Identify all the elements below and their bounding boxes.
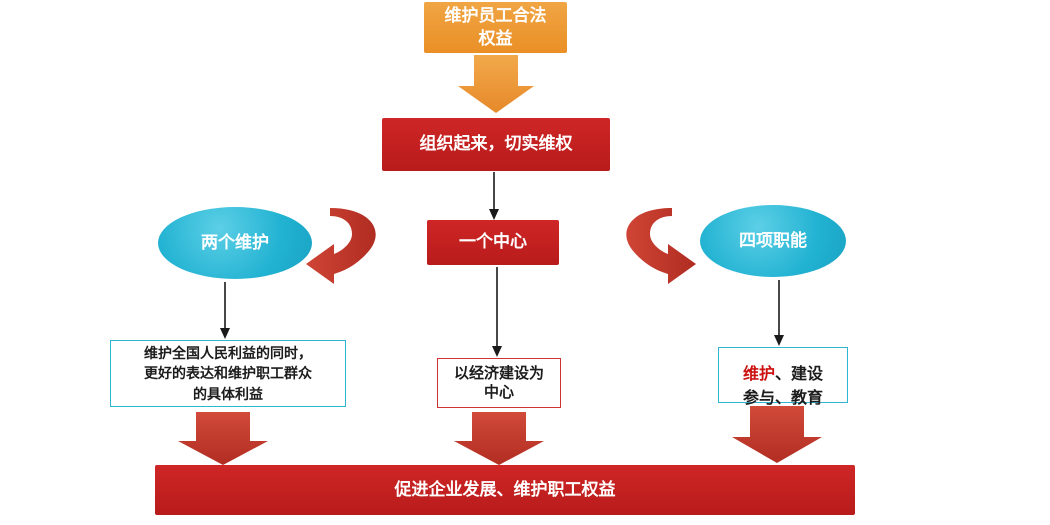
detail-one-center: 以经济建设为 中心 (437, 358, 561, 408)
detail-four-functions: 维护、建设 参与、教育 (718, 347, 848, 403)
red-down-arrow-right (732, 406, 822, 463)
node-promote-enterprise-development: 促进企业发展、维护职工权益 (155, 465, 855, 515)
red-down-arrow-left (178, 412, 268, 465)
node-one-center: 一个中心 (427, 220, 559, 265)
node-maintain-employee-rights: 维护员工合法 权益 (424, 2, 567, 53)
node-organize-and-defend-rights: 组织起来，切实维权 (382, 118, 610, 171)
red-down-arrow-center (454, 412, 544, 465)
arrow-rightoval-to-detail (774, 280, 784, 346)
arrow-banner-to-center (489, 172, 499, 220)
orange-down-arrow (458, 55, 534, 113)
node-two-maintenances: 两个维护 (158, 207, 312, 279)
curved-arrow-left (306, 208, 376, 284)
node-four-functions: 四项职能 (700, 205, 846, 277)
detail-two-maintenances: 维护全国人民利益的同时， 更好的表达和维护职工群众 的具体利益 (110, 340, 346, 407)
arrow-leftoval-to-detail (220, 282, 230, 339)
arrow-center-to-detail (492, 267, 502, 357)
detail-right-highlight: 维护 (743, 366, 775, 383)
diagram-canvas: 维护员工合法 权益 组织起来，切实维权 两个维护 一个中心 四项职能 维护全国人… (0, 0, 1050, 525)
curved-arrow-right (626, 208, 696, 284)
